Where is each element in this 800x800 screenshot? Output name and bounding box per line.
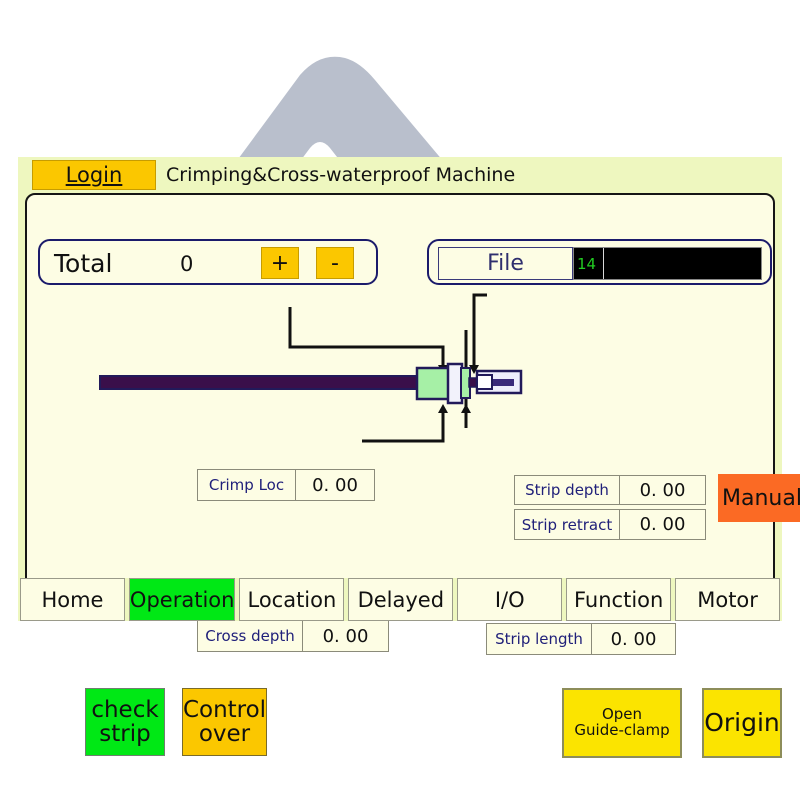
strip-retract-label: Strip retract	[515, 510, 620, 539]
cross-depth-field[interactable]: Cross depth 0. 00	[197, 620, 389, 652]
main-panel: Total 0 + - File 14 Crimp Loc 0. 00 Stri…	[25, 193, 775, 611]
check-strip-button[interactable]: check strip	[85, 688, 165, 756]
control-over-button[interactable]: Control over	[182, 688, 267, 756]
machine-title: Crimping&Cross-waterproof Machine	[166, 164, 515, 186]
screenshot-root: Login Crimping&Cross-waterproof Machine …	[0, 0, 800, 800]
tab-io[interactable]: I/O	[457, 578, 562, 621]
crimp-loc-label: Crimp Loc	[198, 470, 296, 500]
total-value: 0	[180, 252, 193, 276]
strip-depth-label: Strip depth	[515, 476, 620, 504]
open-guide-label-line2: Guide-clamp	[574, 723, 669, 739]
origin-button[interactable]: Origin	[702, 688, 782, 758]
file-number: 14	[574, 248, 604, 279]
strip-length-label: Strip length	[487, 624, 592, 654]
hmi-screen: Login Crimping&Cross-waterproof Machine …	[18, 157, 782, 621]
control-over-label-line1: Control	[183, 698, 266, 722]
strip-retract-field[interactable]: Strip retract 0. 00	[514, 509, 706, 540]
manual-mode-button[interactable]: Manual	[718, 474, 800, 522]
cross-depth-label: Cross depth	[198, 621, 303, 651]
file-button[interactable]: File	[438, 247, 573, 280]
total-counter-group: Total 0 + -	[38, 239, 378, 285]
crimp-loc-value[interactable]: 0. 00	[296, 470, 374, 500]
file-group: File 14	[427, 239, 772, 285]
bottom-tab-bar: Home Operation Location Delayed I/O Func…	[18, 578, 782, 621]
tab-location[interactable]: Location	[239, 578, 344, 621]
strip-length-value[interactable]: 0. 00	[592, 624, 675, 654]
total-label: Total	[54, 249, 112, 278]
strip-depth-field[interactable]: Strip depth 0. 00	[514, 475, 706, 505]
file-display[interactable]: 14	[573, 247, 762, 280]
open-guide-clamp-button[interactable]: Open Guide-clamp	[562, 688, 682, 758]
check-strip-label-line2: strip	[99, 722, 150, 746]
control-over-label-line2: over	[199, 722, 250, 746]
increment-button[interactable]: +	[261, 247, 299, 279]
tab-home[interactable]: Home	[20, 578, 125, 621]
crimp-loc-field[interactable]: Crimp Loc 0. 00	[197, 469, 375, 501]
tab-function[interactable]: Function	[566, 578, 671, 621]
title-bar: Login Crimping&Cross-waterproof Machine	[18, 157, 782, 193]
decrement-button[interactable]: -	[316, 247, 354, 279]
login-button[interactable]: Login	[32, 160, 156, 190]
strip-retract-value[interactable]: 0. 00	[620, 510, 705, 539]
strip-depth-value[interactable]: 0. 00	[620, 476, 705, 504]
check-strip-label-line1: check	[91, 698, 158, 722]
tab-motor[interactable]: Motor	[675, 578, 780, 621]
tab-delayed[interactable]: Delayed	[348, 578, 453, 621]
cross-depth-value[interactable]: 0. 00	[303, 621, 388, 651]
tab-operation[interactable]: Operation	[129, 578, 236, 621]
strip-length-field[interactable]: Strip length 0. 00	[486, 623, 676, 655]
